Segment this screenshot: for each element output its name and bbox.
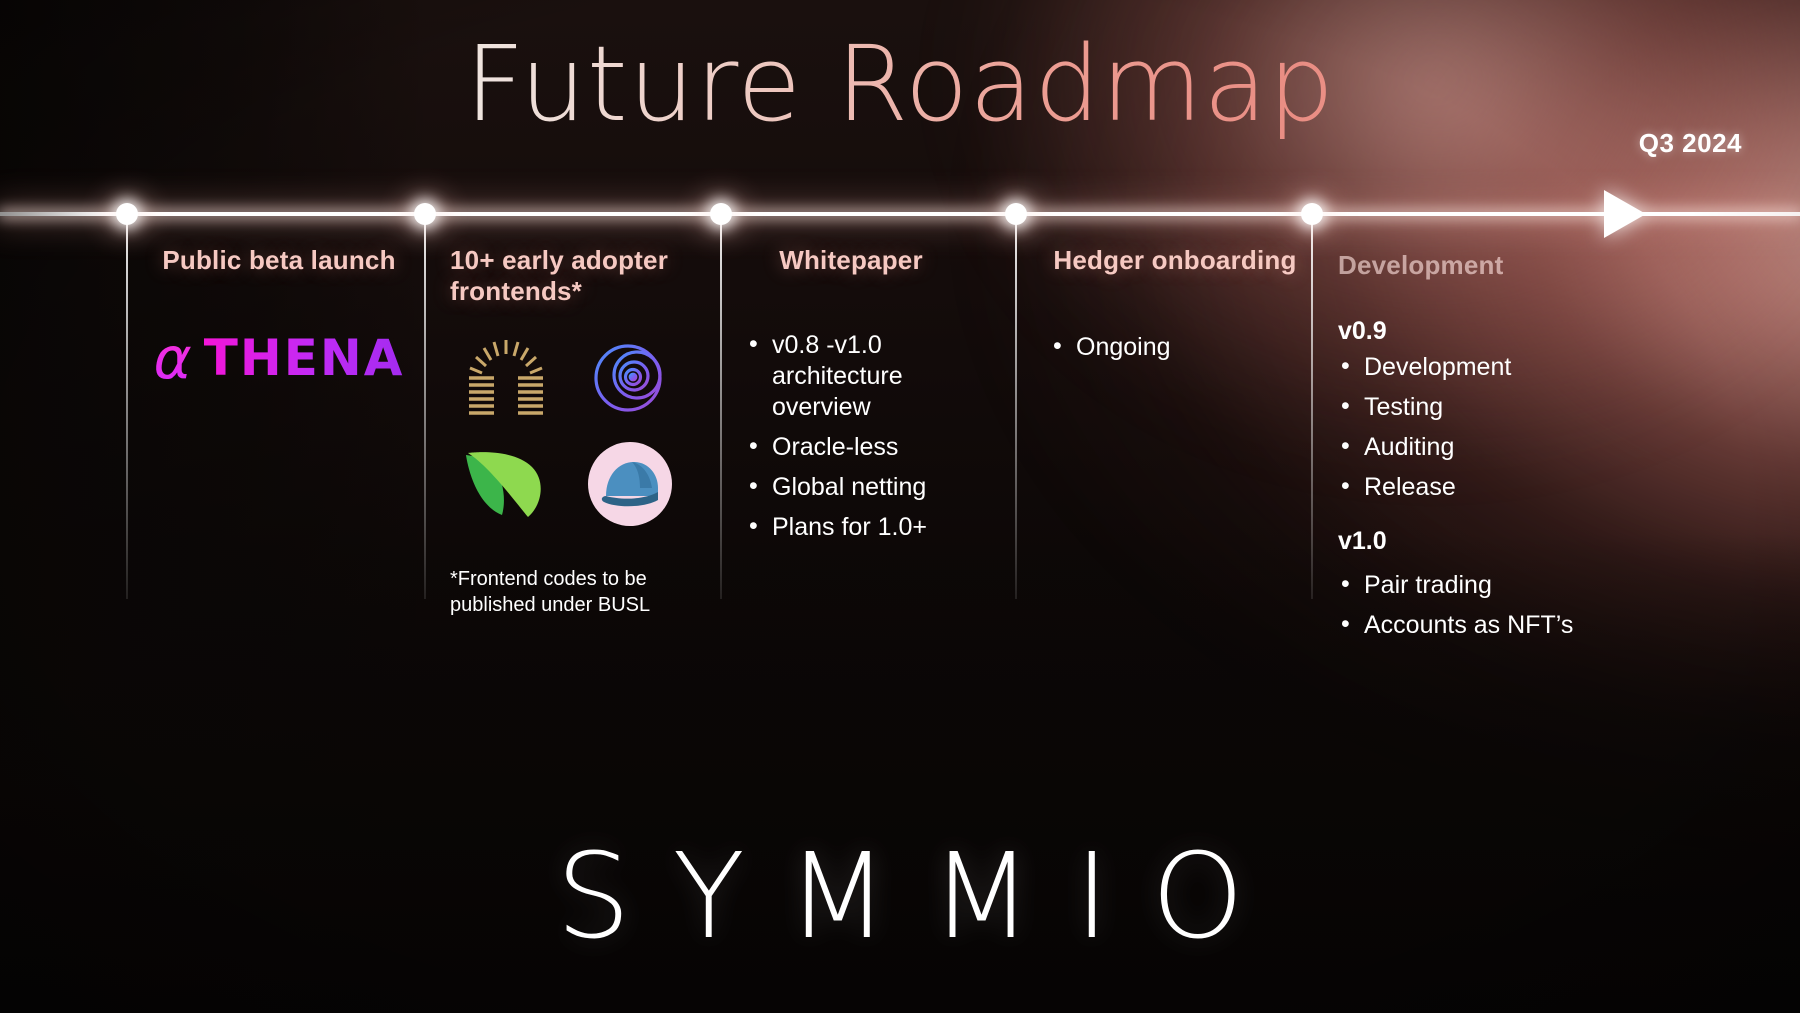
v10-bullet-list: Pair trading Accounts as NFT’s xyxy=(1338,570,1668,641)
thena-wordmark: THENA xyxy=(204,329,405,387)
timeline-stem-5 xyxy=(1311,214,1313,599)
page-title: Future Roadmap xyxy=(0,30,1800,139)
list-item: Plans for 1.0+ xyxy=(746,512,996,543)
list-item: Global netting xyxy=(746,472,996,503)
timeline-stem-4 xyxy=(1015,214,1017,599)
version-label: v1.0 xyxy=(1338,527,1668,556)
version-block-v09: v0.9 Development Testing Auditing Releas… xyxy=(1338,317,1668,503)
timeline-stem-2 xyxy=(424,214,426,599)
list-item: Accounts as NFT’s xyxy=(1338,610,1668,641)
milestone-hedger-onboarding: Hedger onboarding Ongoing xyxy=(1040,245,1310,372)
list-item: Release xyxy=(1338,472,1668,503)
milestone-title: Hedger onboarding xyxy=(1040,245,1310,276)
list-item: Oracle-less xyxy=(746,432,996,463)
spiral-rose-logo-icon xyxy=(582,330,678,426)
blue-cap-logo-icon xyxy=(582,436,678,532)
quarter-label: Q3 2024 xyxy=(1639,128,1742,159)
milestone-title: Whitepaper xyxy=(746,245,996,276)
milestone-title: 10+ early adopter frontends* xyxy=(450,245,700,306)
timeline-node-4[interactable] xyxy=(1005,203,1027,225)
list-item: Auditing xyxy=(1338,432,1668,463)
whitepaper-bullet-list: v0.8 -v1.0 architecture overview Oracle-… xyxy=(746,330,996,543)
v09-bullet-list: Development Testing Auditing Release xyxy=(1338,352,1668,503)
thena-logo: α THENA xyxy=(148,324,410,392)
list-item: v0.8 -v1.0 architecture overview xyxy=(746,330,996,423)
timeline-node-5[interactable] xyxy=(1301,203,1323,225)
milestone-title: Public beta launch xyxy=(148,245,410,276)
timeline-node-3[interactable] xyxy=(710,203,732,225)
milestone-whitepaper: Whitepaper v0.8 -v1.0 architecture overv… xyxy=(746,245,996,552)
timeline-stem-3 xyxy=(720,214,722,599)
milestone-early-adopter-frontends: 10+ early adopter frontends* xyxy=(450,245,700,618)
list-item: Pair trading xyxy=(1338,570,1668,601)
hedger-bullet-list: Ongoing xyxy=(1050,332,1310,363)
list-item: Testing xyxy=(1338,392,1668,423)
milestone-public-beta-launch: Public beta launch α THENA xyxy=(148,245,410,392)
green-leaf-logo-icon xyxy=(458,436,554,532)
version-block-v10: v1.0 Pair trading Accounts as NFT’s xyxy=(1338,527,1668,641)
milestone-development: Development v0.9 Development Testing Aud… xyxy=(1338,250,1668,650)
frontend-footnote: *Frontend codes to be published under BU… xyxy=(450,566,700,618)
arrow-right-icon xyxy=(1604,190,1646,238)
slide-canvas: Future Roadmap Q3 2024 Public beta launc… xyxy=(0,0,1800,1013)
list-item: Ongoing xyxy=(1050,332,1310,363)
arch-rays-logo-icon xyxy=(458,330,554,426)
symmio-wordmark: SYMMIO xyxy=(0,837,1800,955)
timeline-node-2[interactable] xyxy=(414,203,436,225)
timeline-axis xyxy=(0,212,1800,216)
frontend-logo-grid xyxy=(458,330,700,532)
version-label: v0.9 xyxy=(1338,317,1668,346)
list-item: Development xyxy=(1338,352,1668,383)
milestone-title: Development xyxy=(1338,250,1668,281)
timeline-stem-1 xyxy=(126,214,128,599)
timeline-node-1[interactable] xyxy=(116,203,138,225)
thena-alpha-icon: α xyxy=(154,324,192,392)
